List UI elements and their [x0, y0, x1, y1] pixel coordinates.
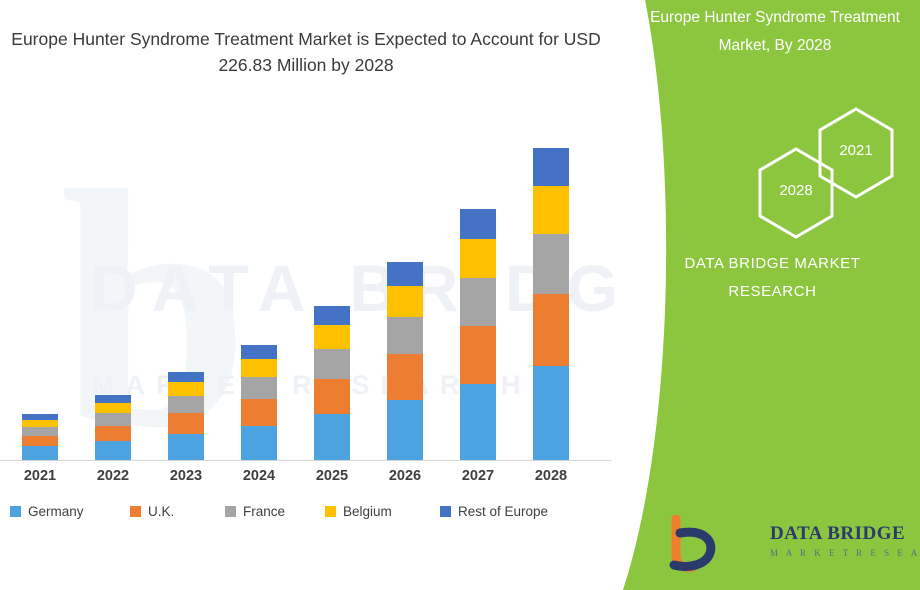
- bar-segment: [95, 395, 131, 403]
- bar-segment: [95, 413, 131, 426]
- bar-group: [314, 306, 350, 460]
- bar-segment: [460, 384, 496, 460]
- right-panel-title: Europe Hunter Syndrome Treatment Market,…: [630, 4, 920, 60]
- bar-group: [241, 345, 277, 460]
- legend-item: Rest of Europe: [440, 504, 548, 519]
- bar-segment: [95, 403, 131, 413]
- bar-segment: [241, 399, 277, 425]
- bar-segment: [22, 420, 58, 427]
- bar-segment: [22, 436, 58, 446]
- bar-segment: [168, 434, 204, 460]
- logo-mark-icon: [660, 515, 730, 573]
- x-axis-line: [0, 460, 612, 461]
- bar-segment: [314, 349, 350, 379]
- x-axis-labels: 20212022202320242025202620272028: [0, 468, 612, 492]
- right-panel: Europe Hunter Syndrome Treatment Market,…: [605, 0, 920, 590]
- legend-item: U.K.: [130, 504, 174, 519]
- legend-swatch: [225, 506, 236, 517]
- bar-group: [533, 148, 569, 460]
- bar-segment: [460, 209, 496, 239]
- x-axis-tick-label: 2021: [5, 468, 75, 484]
- x-axis-tick-label: 2022: [78, 468, 148, 484]
- bar-segment: [168, 372, 204, 382]
- bar-group: [387, 262, 423, 460]
- brand-text: DATA BRIDGE MARKET RESEARCH: [625, 250, 920, 306]
- brand-line-1: DATA BRIDGE MARKET: [625, 250, 920, 278]
- legend-swatch: [130, 506, 141, 517]
- bar-segment: [22, 427, 58, 436]
- bar-segment: [168, 396, 204, 413]
- bar-segment: [314, 379, 350, 415]
- chart-panel: b DATA BRIDGE MARKET RESEARCH Europe Hun…: [0, 0, 630, 590]
- legend-item: Belgium: [325, 504, 392, 519]
- legend-label: Rest of Europe: [458, 504, 548, 519]
- bar-segment: [387, 317, 423, 355]
- x-axis-tick-label: 2026: [370, 468, 440, 484]
- x-axis-tick-label: 2025: [297, 468, 367, 484]
- bar-segment: [387, 286, 423, 317]
- legend-swatch: [440, 506, 451, 517]
- bar-segment: [314, 414, 350, 460]
- chart-title: Europe Hunter Syndrome Treatment Market …: [0, 26, 612, 78]
- bar-segment: [95, 441, 131, 461]
- chart-legend: GermanyU.K.FranceBelgiumRest of Europe: [0, 504, 612, 530]
- hexagon-2028-label: 2028: [753, 182, 839, 199]
- bar-segment: [168, 382, 204, 396]
- legend-swatch: [10, 506, 21, 517]
- bar-segment: [533, 148, 569, 186]
- bar-segment: [460, 278, 496, 326]
- legend-label: France: [243, 504, 285, 519]
- bar-segment: [241, 345, 277, 359]
- x-axis-tick-label: 2023: [151, 468, 221, 484]
- bar-segment: [533, 186, 569, 234]
- bar-segment: [314, 306, 350, 324]
- chart-plot-area: [0, 100, 612, 460]
- legend-label: U.K.: [148, 504, 174, 519]
- legend-item: France: [225, 504, 285, 519]
- bar-group: [168, 372, 204, 460]
- logo-subtitle: M A R K E T R E S E A R C H: [770, 548, 920, 558]
- bar-segment: [387, 262, 423, 286]
- bar-segment: [533, 366, 569, 460]
- x-axis-tick-label: 2024: [224, 468, 294, 484]
- legend-label: Belgium: [343, 504, 392, 519]
- x-axis-tick-label: 2027: [443, 468, 513, 484]
- bar-segment: [95, 426, 131, 441]
- legend-swatch: [325, 506, 336, 517]
- bar-segment: [460, 326, 496, 385]
- bar-group: [95, 395, 131, 460]
- brand-line-2: RESEARCH: [625, 278, 920, 306]
- company-logo: DATA BRIDGE M A R K E T R E S E A R C H: [660, 515, 920, 577]
- bar-segment: [460, 239, 496, 278]
- bar-segment: [533, 234, 569, 294]
- bar-segment: [387, 354, 423, 400]
- bar-group: [460, 209, 496, 460]
- bar-group: [22, 414, 58, 460]
- bar-segment: [387, 400, 423, 460]
- bar-segment: [241, 359, 277, 377]
- legend-item: Germany: [10, 504, 84, 519]
- logo-name: DATA BRIDGE: [770, 523, 905, 545]
- legend-label: Germany: [28, 504, 84, 519]
- bar-segment: [314, 325, 350, 349]
- x-axis-tick-label: 2028: [516, 468, 586, 484]
- bar-segment: [241, 426, 277, 460]
- bar-segment: [533, 294, 569, 366]
- bar-segment: [168, 413, 204, 434]
- bar-segment: [241, 377, 277, 399]
- bar-segment: [22, 446, 58, 460]
